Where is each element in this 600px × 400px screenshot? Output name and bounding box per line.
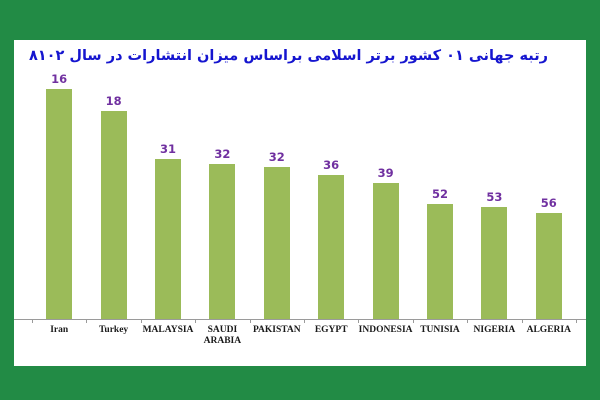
x-axis-category-line: NIGERIA (467, 325, 521, 336)
bar[interactable] (318, 175, 344, 319)
x-axis-category-label: NIGERIA (467, 325, 521, 336)
bar-value-label: 53 (486, 190, 502, 204)
bar[interactable] (536, 213, 562, 319)
x-axis-category-label: SAUDIARABIA (195, 325, 249, 347)
bar-slot: 53 (467, 54, 521, 319)
x-axis-tick (413, 319, 414, 323)
bar-value-label: 32 (214, 147, 230, 161)
bar-value-label: 18 (106, 94, 122, 108)
x-axis-tick (195, 319, 196, 323)
x-axis-labels: IranTurkeyMALAYSIASAUDIARABIAPAKISTANEGY… (14, 325, 586, 365)
chart-image-frame: رتبه جهانی ۱۰ کشور برتر اسلامی براساس می… (0, 0, 600, 400)
x-axis-tick (86, 319, 87, 323)
bar[interactable] (46, 89, 72, 319)
bar[interactable] (155, 159, 181, 319)
bar-slot: 32 (195, 54, 249, 319)
x-axis-category-label: Turkey (86, 325, 140, 336)
plot-area: 16183132323639525356 (14, 54, 586, 319)
x-axis-category-label: MALAYSIA (141, 325, 195, 336)
x-axis-category-line: Iran (32, 325, 86, 336)
x-axis-category-label: INDONESIA (358, 325, 412, 336)
bar[interactable] (481, 207, 507, 319)
x-axis-tick (141, 319, 142, 323)
x-axis-category-label: EGYPT (304, 325, 358, 336)
x-axis-tick (32, 319, 33, 323)
bar-slot: 16 (32, 54, 86, 319)
bar-slot: 18 (86, 54, 140, 319)
bar-value-label: 32 (269, 150, 285, 164)
x-axis-category-line: ALGERIA (522, 325, 576, 336)
bar-value-label: 16 (51, 72, 67, 86)
x-axis-tick (576, 319, 577, 323)
x-axis-category-line: INDONESIA (358, 325, 412, 336)
bar[interactable] (209, 164, 235, 319)
bar[interactable] (101, 111, 127, 319)
bar[interactable] (264, 167, 290, 319)
bar-slot: 31 (141, 54, 195, 319)
x-axis-category-line: EGYPT (304, 325, 358, 336)
x-axis-category-line: PAKISTAN (250, 325, 304, 336)
x-axis-tick (250, 319, 251, 323)
bar-slot: 56 (522, 54, 576, 319)
bar-value-label: 31 (160, 142, 176, 156)
bar-slot: 32 (250, 54, 304, 319)
x-axis-category-label: ALGERIA (522, 325, 576, 336)
chart-panel: رتبه جهانی ۱۰ کشور برتر اسلامی براساس می… (14, 40, 586, 366)
x-axis-tick (522, 319, 523, 323)
x-axis-category-line: TUNISIA (413, 325, 467, 336)
bar-value-label: 36 (323, 158, 339, 172)
x-axis-tick (467, 319, 468, 323)
bar[interactable] (373, 183, 399, 319)
x-axis-category-line: ARABIA (195, 336, 249, 347)
x-axis-line (14, 319, 586, 320)
bar-slot: 36 (304, 54, 358, 319)
bar-slot: 39 (358, 54, 412, 319)
bar-value-label: 39 (378, 166, 394, 180)
x-axis-category-line: SAUDI (195, 325, 249, 336)
bar[interactable] (427, 204, 453, 319)
x-axis-category-label: PAKISTAN (250, 325, 304, 336)
bar-slot: 52 (413, 54, 467, 319)
x-axis-tick (304, 319, 305, 323)
bar-value-label: 52 (432, 187, 448, 201)
x-axis-category-line: Turkey (86, 325, 140, 336)
x-axis-tick (358, 319, 359, 323)
bar-value-label: 56 (541, 196, 557, 210)
x-axis-category-label: TUNISIA (413, 325, 467, 336)
x-axis-category-label: Iran (32, 325, 86, 336)
x-axis-category-line: MALAYSIA (141, 325, 195, 336)
